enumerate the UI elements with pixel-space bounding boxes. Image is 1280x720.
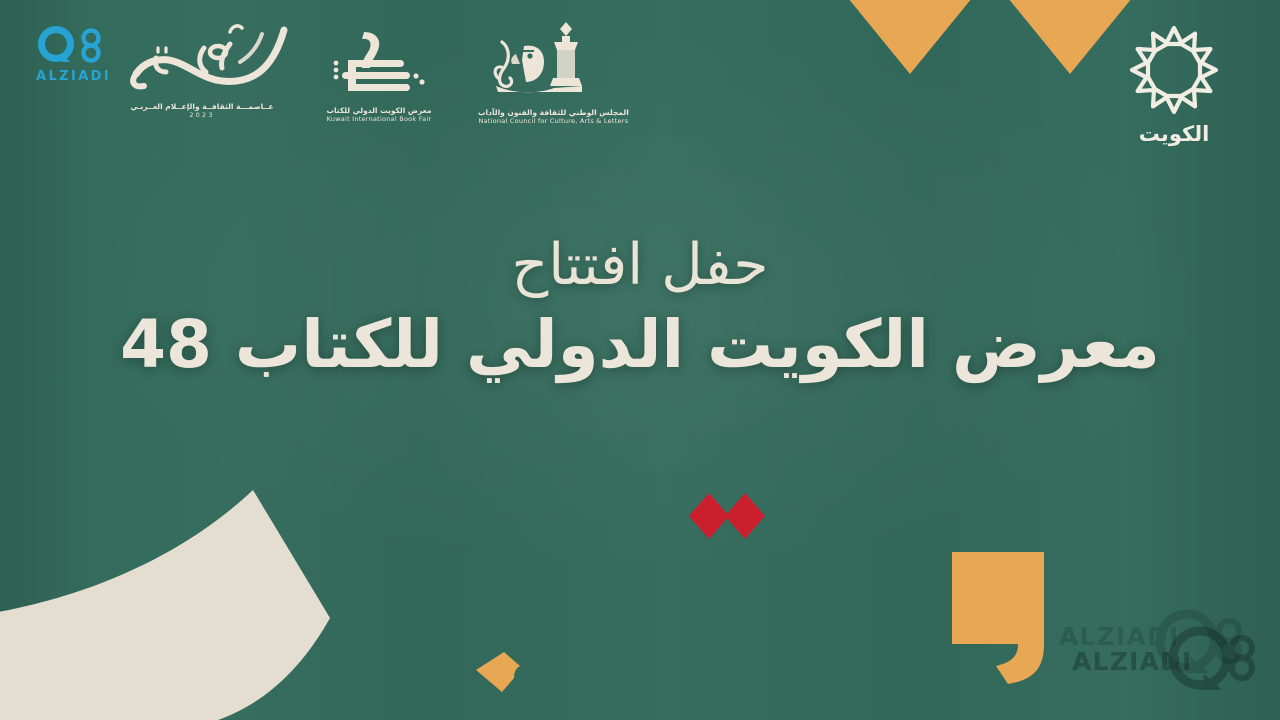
- logo-nccal-caption-ar: المجلس الوطني للثقافة والفنون والآداب: [478, 108, 629, 117]
- headline-block: حفل افتتاح معرض الكويت الدولي للكتاب 48: [0, 236, 1280, 382]
- tower-mask-clef-icon: [478, 20, 608, 104]
- logo-book-fair-caption-ar: معرض الكويت الدولي للكتاب: [318, 106, 440, 115]
- event-title: معرض الكويت الدولي للكتاب 48: [0, 308, 1280, 382]
- broadcast-frame: ALZIADI عــاصمـــة الثقافــ: [0, 0, 1280, 720]
- logo-alziadi-wordmark: ALZIADI: [36, 69, 111, 84]
- logo-book-fair: معرض الكويت الدولي للكتاب Kuwait Interna…: [318, 30, 440, 124]
- logo-kuwait-capital: عــاصمـــة الثقافــة والإعــلام العــربـ…: [112, 18, 292, 120]
- logo-nccal-caption-en: National Council for Culture, Arts & Let…: [478, 117, 629, 125]
- cream-curved-shape-icon: [0, 470, 360, 720]
- logo-kuwait-seal: الكويت: [1122, 18, 1226, 146]
- orange-small-chevron-icon: [474, 650, 530, 698]
- event-subtitle: حفل افتتاح: [0, 236, 1280, 294]
- logo-nccal: المجلس الوطني للثقافة والفنون والآداب Na…: [478, 20, 629, 126]
- watermark-ghost-layer: ALZIADI: [1059, 599, 1259, 685]
- watermark-main-layer: ALZIADI: [1068, 612, 1268, 698]
- logo-kuwait-capital-year: 2023: [112, 111, 292, 119]
- book-calligraphy-icon: [318, 30, 440, 102]
- kuwait-rosette-icon: [1122, 18, 1226, 122]
- q8-aperture-icon: [36, 24, 110, 64]
- red-double-diamond-icon: [688, 492, 766, 544]
- logo-kuwait-capital-caption-ar: عــاصمـــة الثقافــة والإعــلام العــربـ…: [112, 102, 292, 111]
- orange-quote-mark-icon: [946, 548, 1050, 688]
- sponsor-logo-bar: ALZIADI عــاصمـــة الثقافــ: [0, 0, 1280, 160]
- logo-book-fair-caption-en: Kuwait International Book Fair: [318, 115, 440, 123]
- logo-alziadi: ALZIADI: [36, 24, 111, 84]
- logo-kuwait-seal-label: الكويت: [1122, 122, 1226, 146]
- svg-text:ALZIADI: ALZIADI: [1059, 622, 1180, 651]
- alziadi-q8-watermark: ALZIADI ALZIADI: [1068, 612, 1268, 698]
- watermark-brand-text: ALZIADI: [1072, 647, 1193, 676]
- kuwait-calligraphy-icon: [112, 18, 292, 98]
